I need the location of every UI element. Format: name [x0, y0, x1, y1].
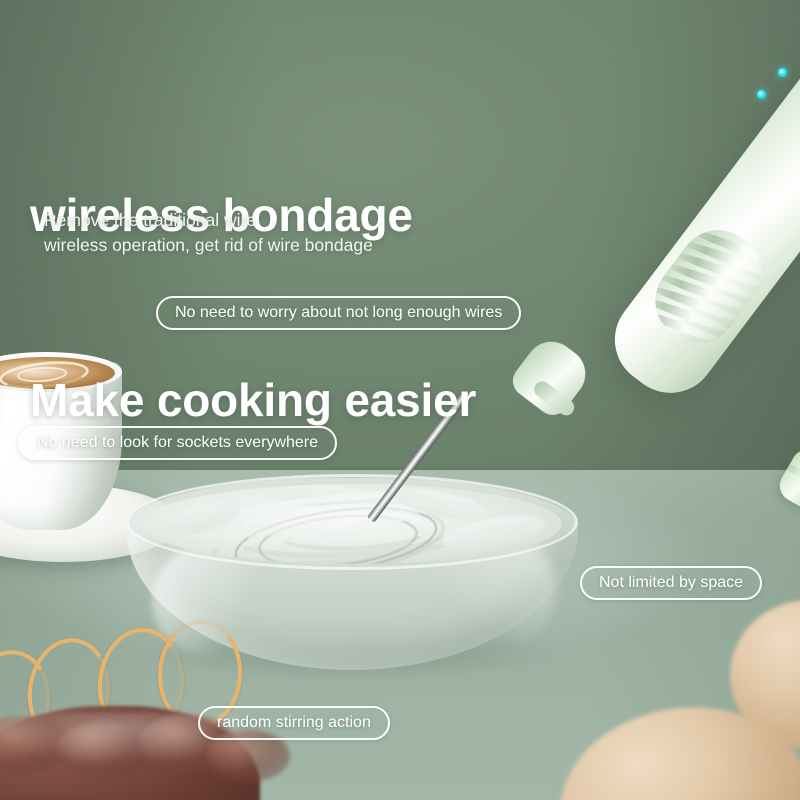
subtitle-copy: Remove the traditional wire wireless ope… [44, 208, 373, 258]
handle-body [596, 13, 800, 411]
device-neck [507, 331, 596, 421]
led-indicator-icon [757, 90, 766, 99]
callout-badge-sockets: No need to look for sockets everywhere [18, 426, 337, 460]
callout-badge-wires: No need to worry about not long enough w… [156, 296, 521, 330]
whisk-head [774, 446, 800, 513]
product-advertisement-scene: wireless bondage Make cooking easier Rem… [0, 0, 800, 800]
subtitle-line-1: Remove the traditional wire [44, 208, 373, 233]
led-indicator-icon [778, 68, 787, 77]
subtitle-line-2: wireless operation, get rid of wire bond… [44, 233, 373, 258]
headline-line-2: Make cooking easier [30, 370, 476, 432]
callout-badge-space: Not limited by space [580, 566, 762, 600]
callout-badge-stirring: random stirring action [198, 706, 390, 740]
